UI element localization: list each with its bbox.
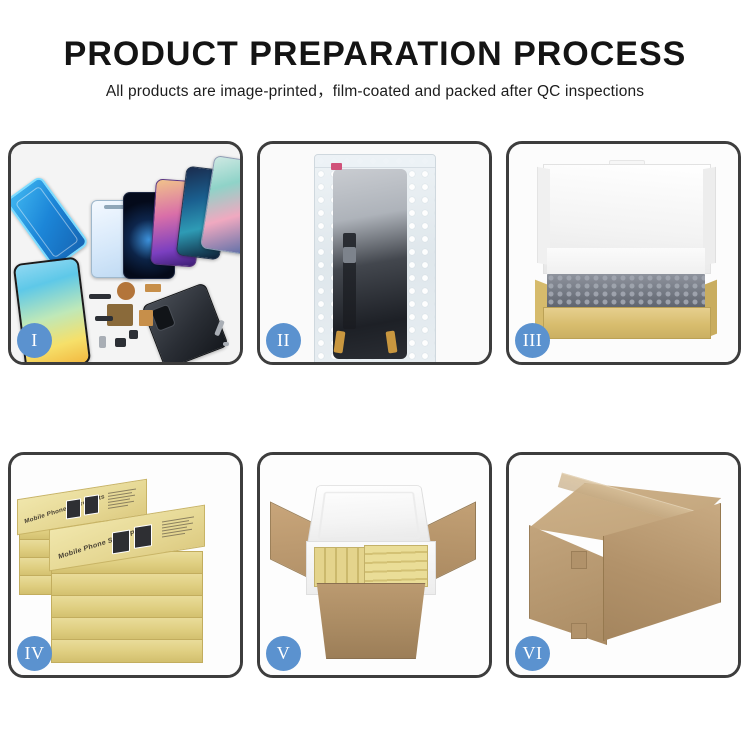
carton-seam-tab-bottom-icon [571,623,587,639]
carton-seam-tab-top-icon [571,551,587,569]
process-step-4[interactable]: Mobile Phone Spare Parts Mobile Phone Sp… [8,452,243,678]
process-step-5[interactable]: V [257,452,492,678]
foam-lid-icon [306,485,431,548]
step-badge-2: II [266,323,301,358]
step-badge-6: VI [515,636,550,671]
part-tray-icon [99,336,106,348]
step-badge-3: III [515,323,550,358]
process-step-6[interactable]: VI [506,452,741,678]
part-button-icon [129,330,138,339]
process-step-3[interactable]: III [506,141,741,365]
packed-yellow-boxes-side-icon [364,545,428,587]
step-badge-1: I [17,323,52,358]
part-flex-cable-icon [145,284,161,292]
page-header: PRODUCT PREPARATION PROCESS All products… [0,0,750,103]
part-coil-icon [117,282,135,300]
process-step-1[interactable]: I [8,141,243,365]
process-step-grid: I II [8,141,742,678]
box-yellow-tray-icon [543,307,711,339]
bubble-wrap-bag-icon [314,154,436,362]
box-inner-liner-icon [547,248,705,276]
lcd-driver-chip-icon [343,247,356,263]
part-screw-icon [223,342,229,346]
step-badge-5: V [266,636,301,671]
carton-front-panel-icon [312,583,430,659]
part-vibrator-icon [115,338,126,347]
page-subtitle: All products are image-printed，film-coat… [0,81,750,103]
part-connector-icon [95,316,113,321]
part-speaker-icon [89,294,111,299]
bag-label-sticker-icon [331,163,342,170]
process-step-2[interactable]: II [257,141,492,365]
step-badge-4: IV [17,636,52,671]
packed-parts-icon [547,274,705,308]
part-camera-flex-icon [139,310,153,326]
part-grid-board-icon [107,304,133,326]
page-title: PRODUCT PREPARATION PROCESS [0,34,750,74]
